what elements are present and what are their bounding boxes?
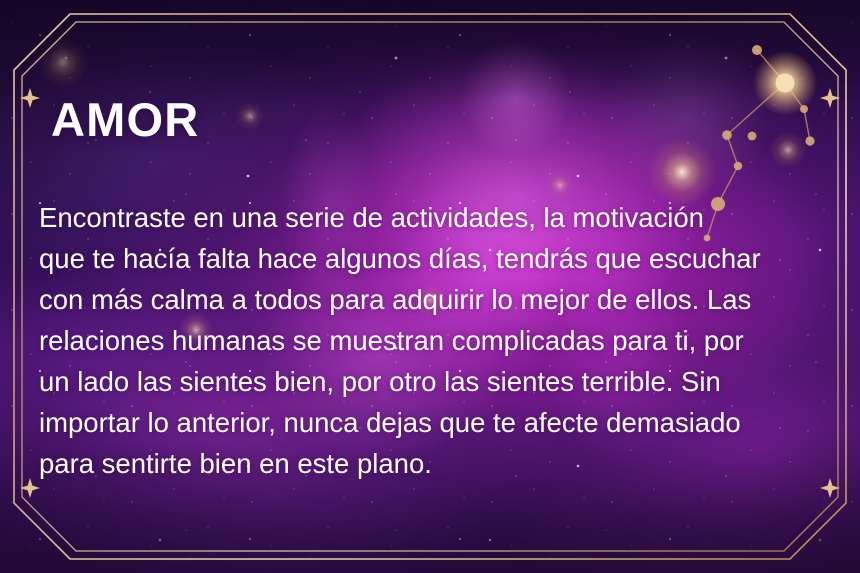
card-content: AMOR Encontraste en una serie de activid… [0,0,860,573]
horoscope-body-text: Encontraste en una serie de actividades,… [39,197,829,484]
section-heading: AMOR [51,94,199,146]
horoscope-card: AMOR Encontraste en una serie de activid… [0,0,860,573]
